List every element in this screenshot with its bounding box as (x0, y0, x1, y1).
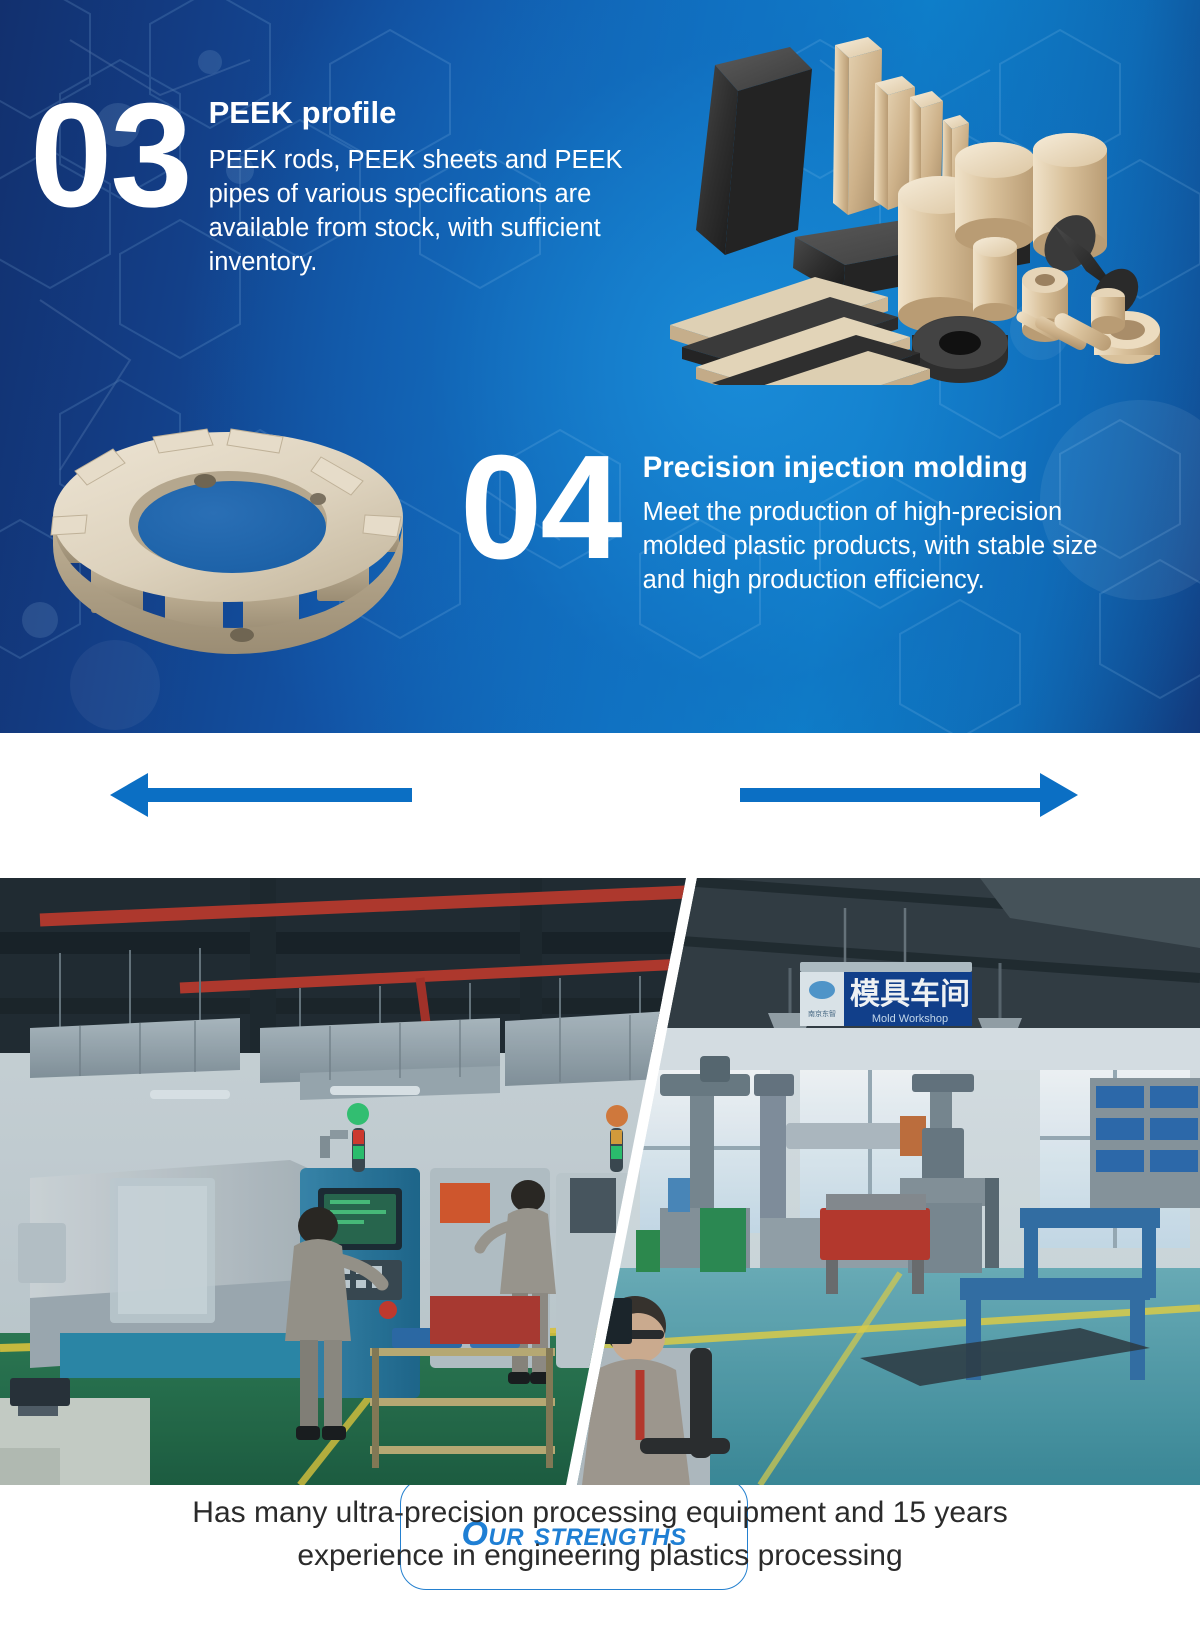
caption-line-2: experience in engineering plastics proce… (0, 1535, 1200, 1578)
feature-block-03: 03 PEEK profile PEEK rods, PEEK sheets a… (30, 88, 639, 280)
feature-body-04: Meet the production of high-precision mo… (643, 496, 1133, 598)
peek-sheets-fan (670, 277, 930, 385)
feature-heading-04: Precision injection molding (643, 452, 1133, 484)
ring-hole-right (310, 493, 326, 505)
product-feature-page: 03 PEEK profile PEEK rods, PEEK sheets a… (0, 0, 1200, 1628)
feature-number-03: 03 (30, 88, 191, 224)
our-strengths-banner: Our strengths (0, 733, 1200, 878)
feature-heading-03: PEEK profile (209, 96, 639, 130)
factory-photo-gallery: 南京东智 模具车间 Mold Workshop (0, 878, 1200, 1485)
feature-block-04: 04 Precision injection molding Meet the … (460, 440, 1133, 598)
double-arrow-graphic (0, 733, 1200, 878)
cnc-machining-workshop-photo (0, 878, 686, 1485)
ring-hole-front (230, 628, 254, 642)
peek-profile-products-photo (630, 25, 1190, 385)
caption-line-1: Has many ultra-precision processing equi… (0, 1492, 1200, 1535)
peek-machined-ring-photo (35, 405, 425, 660)
black-block-large (696, 47, 812, 255)
ring-bore-hole (138, 481, 326, 573)
arrow-right-icon (740, 773, 1078, 817)
gallery-caption: Has many ultra-precision processing equi… (0, 1492, 1200, 1577)
ring-hole-top (194, 474, 216, 488)
feature-body-03: PEEK rods, PEEK sheets and PEEK pipes of… (209, 144, 639, 280)
feature-number-04: 04 (460, 440, 621, 576)
arrow-left-icon (110, 773, 412, 817)
tan-short-cylinder (1091, 288, 1125, 334)
hero-blue-panel: 03 PEEK profile PEEK rods, PEEK sheets a… (0, 0, 1200, 733)
